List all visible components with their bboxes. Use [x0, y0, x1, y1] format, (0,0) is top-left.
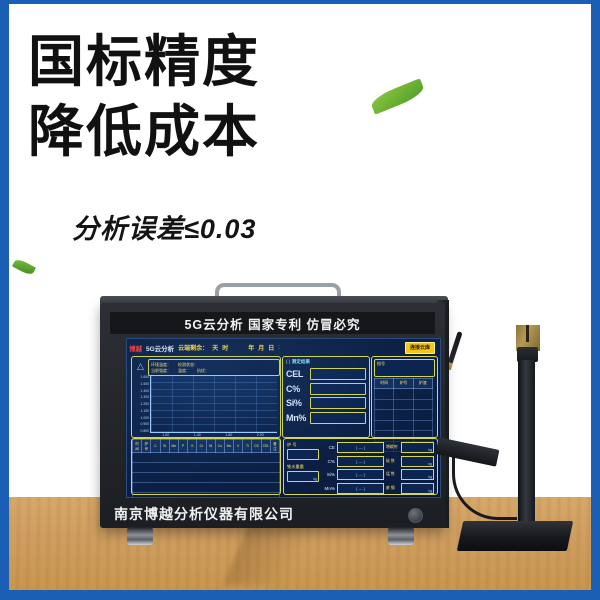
y-tick: 1.100	[134, 409, 149, 413]
time-colon-label: :	[278, 345, 280, 351]
col-header: 备注	[270, 440, 279, 453]
power-button[interactable]	[408, 508, 423, 523]
table-header-row: 时间 炉号 C Si Mn P S Cr Ni Cu Mo V Ti CE CE…	[133, 440, 280, 453]
additive-rows: CE [ — ] 增碳剂 C% [ — ] 硅 铁 Si% [ —	[322, 442, 434, 496]
additive-row: Si% [ — ] 锰 铁	[322, 469, 434, 480]
col-header: 炉号	[142, 440, 151, 453]
y-tick: 1.600	[134, 375, 149, 379]
col-header: Si	[160, 440, 169, 453]
table-header-row: 时间 炉号 炉渣	[375, 379, 433, 389]
col-header: Mn	[169, 440, 178, 453]
additive-amount-ferromanganese[interactable]	[401, 469, 434, 480]
y-tick: 1.400	[134, 389, 149, 393]
brand-cn-label: 博越	[129, 343, 142, 353]
label-temp: 温度：	[178, 368, 190, 374]
device-banner: 5G云分析 国家专利 仿冒必究	[110, 312, 435, 334]
result-value-c[interactable]	[310, 383, 366, 395]
measurement-result-panel: ( ) 测定结果 CEL C% Si% Mn%	[282, 356, 370, 438]
table-row	[375, 399, 433, 410]
waveform-icon: △	[134, 360, 147, 372]
frame-left-border	[0, 0, 9, 600]
additive-element-mn: Mn%	[322, 486, 335, 491]
device-foot-right	[388, 527, 414, 545]
furnace-number-input[interactable]	[287, 449, 319, 460]
y-tick: 1.000	[134, 416, 149, 420]
furnace-weight-group: 炉 号 铁水重量	[287, 442, 319, 486]
company-name: 南京博越分析仪器有限公司	[108, 504, 294, 524]
cloud-remaining-label: 云端剩余：	[178, 343, 208, 352]
table-row	[133, 493, 280, 499]
additive-range-mn[interactable]: [ — ]	[337, 483, 384, 494]
screen-header-bar: 博越 5G云分析 云端剩余： 天 时 年 月 日 : 连接云库	[129, 340, 438, 355]
additive-amount-ferrosilicon[interactable]	[401, 456, 434, 467]
y-tick: 1.500	[134, 382, 149, 386]
headline-block: 国标精度 降低成本	[28, 34, 368, 160]
additive-element-c: C%	[322, 459, 335, 464]
label-noise: 抗扰：	[197, 368, 209, 374]
device-foot-left	[127, 527, 153, 545]
molten-weight-label: 铁水重量	[287, 464, 319, 470]
additive-row: C% [ — ] 硅 铁	[322, 456, 434, 467]
y-tick: 1.300	[134, 395, 149, 399]
probe-stand-base	[457, 521, 573, 551]
chart-y-axis-ticks: 1.600 1.500 1.400 1.300 1.200 1.100 1.00…	[134, 375, 149, 433]
additive-name-scrap-steel: 废 钢	[386, 486, 399, 491]
connect-cloud-button[interactable]: 连接云库	[405, 342, 435, 354]
additive-range-ce[interactable]: [ — ]	[337, 442, 384, 453]
result-label-cel: CEL	[286, 369, 307, 379]
table-row	[375, 389, 433, 400]
label-current-intensity: 当前强度：	[151, 368, 171, 374]
additive-range-si[interactable]: [ — ]	[337, 469, 384, 480]
probe-column	[518, 360, 535, 528]
y-tick: 1.200	[134, 402, 149, 406]
result-row: C%	[286, 383, 366, 395]
result-row: Si%	[286, 397, 366, 409]
frame-bottom-border	[0, 590, 600, 600]
col-header: Cu	[215, 440, 224, 453]
table-row	[133, 463, 280, 473]
subheadline: 分析误差≤0.03	[72, 207, 256, 246]
headline-line-1: 国标精度	[28, 34, 368, 90]
additive-range-c[interactable]: [ — ]	[337, 456, 384, 467]
sample-log-panel: 档号 时间 炉号 炉渣	[371, 356, 438, 438]
sample-id-label: 档号	[375, 360, 387, 376]
frame-right-border	[591, 0, 600, 600]
x-tick: 1.80	[225, 433, 232, 437]
table-row	[133, 483, 280, 493]
unit-day-label: 天	[212, 343, 218, 352]
additive-row: Mn% [ — ] 废 钢	[322, 483, 434, 494]
headline-line-2: 降低成本	[28, 104, 368, 160]
company-name-strip: 南京博越分析仪器有限公司	[108, 502, 438, 526]
result-label-si: Si%	[286, 398, 307, 408]
measurement-title-prefix: ( )	[286, 359, 290, 364]
measurement-title-text: 测定结果	[292, 359, 310, 364]
result-row: CEL	[286, 368, 366, 380]
table-row	[375, 410, 433, 421]
history-table: 时间 炉号 C Si Mn P S Cr Ni Cu Mo V Ti CE CE…	[132, 439, 280, 498]
additive-element-si: Si%	[322, 472, 335, 477]
measurement-title: ( ) 测定结果	[286, 359, 310, 365]
col-header: V	[234, 440, 243, 453]
date-day-label: 日	[268, 343, 274, 352]
history-table-panel[interactable]: 时间 炉号 C Si Mn P S Cr Ni Cu Mo V Ti CE CE…	[131, 438, 281, 495]
chart-x-axis-ticks: 1.00 1.40 1.80 2.00	[150, 433, 276, 437]
additive-name-ferromanganese: 锰 铁	[386, 472, 399, 477]
additive-name-carburizer: 增碳剂	[386, 445, 399, 450]
col-header: 炉号	[394, 379, 413, 389]
device-screen[interactable]: 博越 5G云分析 云端剩余： 天 时 年 月 日 : 连接云库 △ 环境温度： …	[126, 338, 441, 498]
cooling-curve-plot	[150, 376, 277, 433]
col-header: CEL	[261, 440, 270, 453]
y-tick: 0.900	[134, 422, 149, 426]
y-tick: 0.800	[134, 429, 149, 433]
col-header: C	[151, 440, 160, 453]
result-value-si[interactable]	[310, 397, 366, 409]
additive-config-panel: 炉 号 铁水重量 CE [ — ] 增碳剂 C% [ — ] 硅 铁	[283, 438, 438, 495]
x-tick: 1.40	[194, 433, 201, 437]
additive-row: CE [ — ] 增碳剂	[322, 442, 434, 453]
probe-tip-notch	[526, 325, 529, 342]
table-row	[375, 420, 433, 431]
furnace-number-label: 炉 号	[287, 442, 319, 448]
history-table-body	[133, 453, 280, 499]
chart-status-labels: 环境温度： 检测状态： 当前强度： 温度： 抗扰：	[148, 359, 280, 376]
col-header: Mo	[224, 440, 233, 453]
col-header: Ni	[206, 440, 215, 453]
col-header: CE	[252, 440, 261, 453]
col-header: 炉渣	[413, 379, 432, 389]
col-header: 时间	[375, 379, 394, 389]
col-header: P	[178, 440, 187, 453]
unit-hour-label: 时	[222, 343, 228, 352]
col-header: S	[188, 440, 197, 453]
spectrum-chart-panel: △ 环境温度： 检测状态： 当前强度： 温度： 抗扰： 1.600 1.500 …	[131, 356, 281, 438]
result-label-mn: Mn%	[286, 413, 307, 423]
result-value-mn[interactable]	[310, 412, 366, 424]
col-header: Ti	[243, 440, 252, 453]
col-header: Cr	[197, 440, 206, 453]
sample-id-field[interactable]: 档号	[374, 359, 435, 377]
x-tick: 2.00	[257, 433, 264, 437]
measurement-rows: CEL C% Si% Mn%	[286, 368, 366, 426]
result-label-c: C%	[286, 384, 307, 394]
frame-top-border	[0, 0, 600, 4]
table-row	[133, 473, 280, 483]
result-row: Mn%	[286, 412, 366, 424]
additive-name-ferrosilicon: 硅 铁	[386, 459, 399, 464]
poster-canvas: 国标精度 降低成本 分析误差≤0.03 5G云分析 国家专利 仿冒必究 博越 5…	[0, 0, 600, 600]
table-row	[133, 453, 280, 463]
date-month-label: 月	[258, 343, 264, 352]
additive-element-ce: CE	[322, 445, 335, 450]
molten-weight-input[interactable]	[287, 471, 319, 482]
date-year-label: 年	[248, 343, 254, 352]
additive-amount-scrap-steel[interactable]	[401, 483, 434, 494]
result-value-cel[interactable]	[310, 368, 366, 380]
additive-amount-carburizer[interactable]	[401, 442, 434, 453]
col-header: 时间	[133, 440, 142, 453]
brand-en-label: 5G云分析	[146, 343, 174, 353]
x-tick: 1.00	[162, 433, 169, 437]
